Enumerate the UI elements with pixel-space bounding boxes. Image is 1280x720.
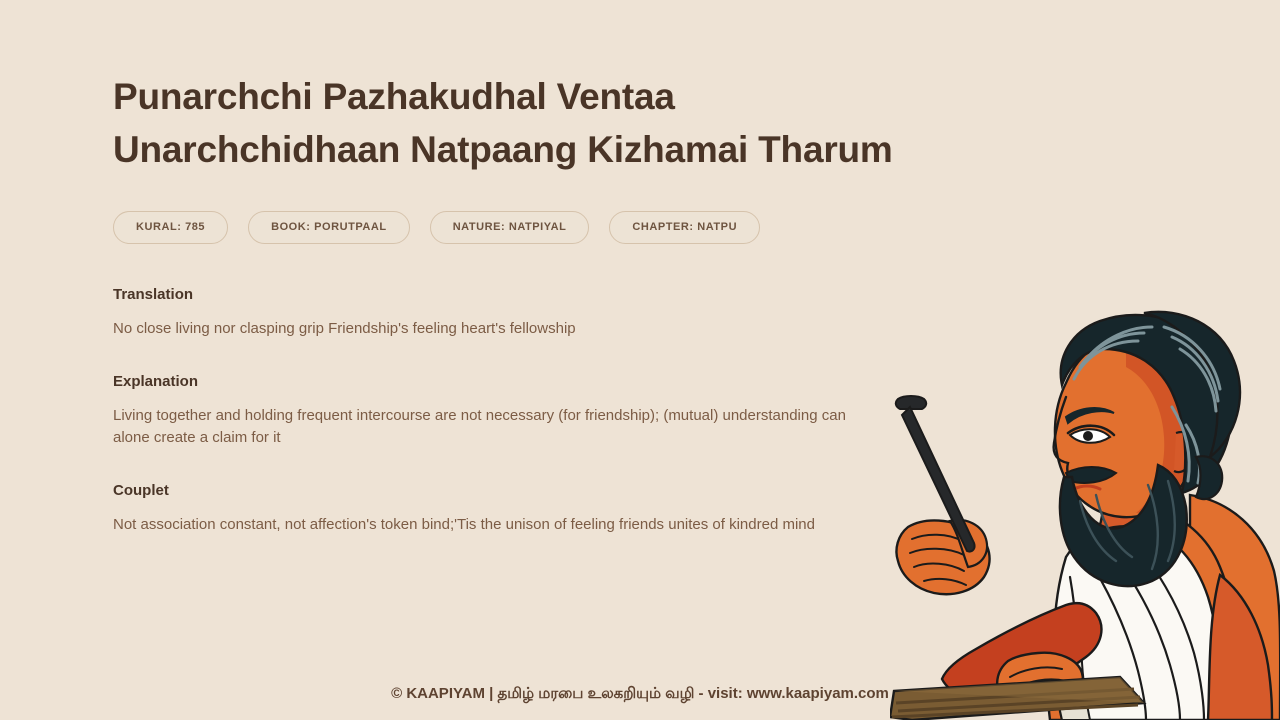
explanation-label: Explanation (113, 373, 973, 391)
page-title: Punarchchi Pazhakudhal Ventaa Unarchchid… (113, 70, 963, 176)
beard-strands (1080, 481, 1175, 569)
footer-credit: © KAAPIYAM | தமிழ் மரபை உலகறியும் வழி - … (0, 684, 1280, 704)
face (1055, 339, 1197, 517)
lip (1074, 486, 1100, 489)
finger-lines (910, 535, 966, 585)
ear (1174, 432, 1194, 472)
eyebrow (1066, 408, 1114, 423)
hair (1061, 315, 1232, 493)
translation-text: No close living nor clasping grip Friend… (113, 318, 848, 340)
hair-back-lock (1196, 456, 1222, 499)
robe-shade (1054, 631, 1090, 720)
badge-kural[interactable]: KURAL: 785 (113, 211, 228, 244)
badge-chapter[interactable]: CHAPTER: NATPU (609, 211, 760, 244)
metadata-badge-row: KURAL: 785 BOOK: PORUTPAAL NATURE: NATPI… (113, 211, 973, 244)
moustache (1066, 467, 1116, 483)
eye (1070, 429, 1110, 443)
nose-profile (1054, 397, 1074, 481)
face-shadow (1126, 342, 1195, 513)
couplet-label: Couplet (113, 482, 973, 500)
couplet-text: Not association constant, not affection'… (113, 514, 848, 536)
section-explanation: Explanation Living together and holding … (113, 373, 973, 449)
hair-bun (1144, 312, 1240, 457)
badge-nature[interactable]: NATURE: NATPIYAL (430, 211, 590, 244)
translation-label: Translation (113, 286, 973, 304)
section-couplet: Couplet Not association constant, not af… (113, 482, 973, 536)
kural-content: Punarchchi Pazhakudhal Ventaa Unarchchid… (113, 70, 973, 536)
explanation-text: Living together and holding frequent int… (113, 405, 848, 449)
beard (1060, 465, 1187, 586)
neck (1090, 483, 1162, 553)
kural-card-screen: Punarchchi Pazhakudhal Ventaa Unarchchid… (0, 0, 1280, 720)
badge-book[interactable]: BOOK: PORUTPAAL (248, 211, 410, 244)
pupil (1083, 431, 1093, 441)
section-translation: Translation No close living nor clasping… (113, 286, 973, 340)
hair-highlights (1074, 327, 1220, 483)
eyelid (1068, 426, 1114, 435)
